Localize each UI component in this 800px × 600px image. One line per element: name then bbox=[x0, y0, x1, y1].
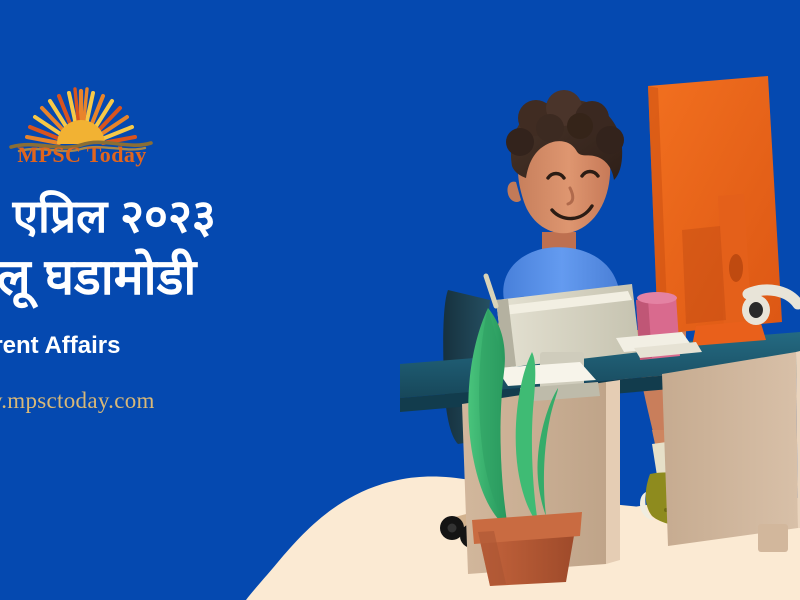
brand-logo-text: MPSC Today bbox=[12, 142, 152, 168]
banner-canvas: MPSC Today २४ एप्रिल २०२३ चालू घडामोडी C… bbox=[0, 0, 800, 600]
person-at-desk-illustration bbox=[400, 0, 800, 600]
person-head bbox=[506, 90, 624, 233]
brand-logo[interactable]: MPSC Today bbox=[6, 78, 156, 176]
desk bbox=[400, 332, 800, 574]
desk-panel-right bbox=[662, 351, 800, 552]
